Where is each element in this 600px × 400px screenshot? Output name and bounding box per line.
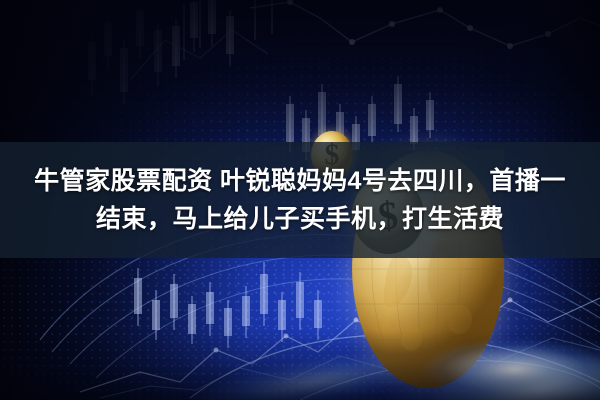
headline-line-2: 结束，马上给儿子买手机，打生活费	[96, 201, 504, 237]
bottom-vignette	[0, 330, 600, 400]
headline-band: 牛管家股票配资 叶锐聪妈妈4号去四川，首播一 结束，马上给儿子买手机，打生活费	[0, 142, 600, 258]
banner-image: $ $ 牛管家股票配资 叶锐聪妈妈4号去四川，首播一 结束，马上给儿子买手机，打…	[0, 0, 600, 400]
headline-line-1: 牛管家股票配资 叶锐聪妈妈4号去四川，首播一	[34, 163, 566, 199]
